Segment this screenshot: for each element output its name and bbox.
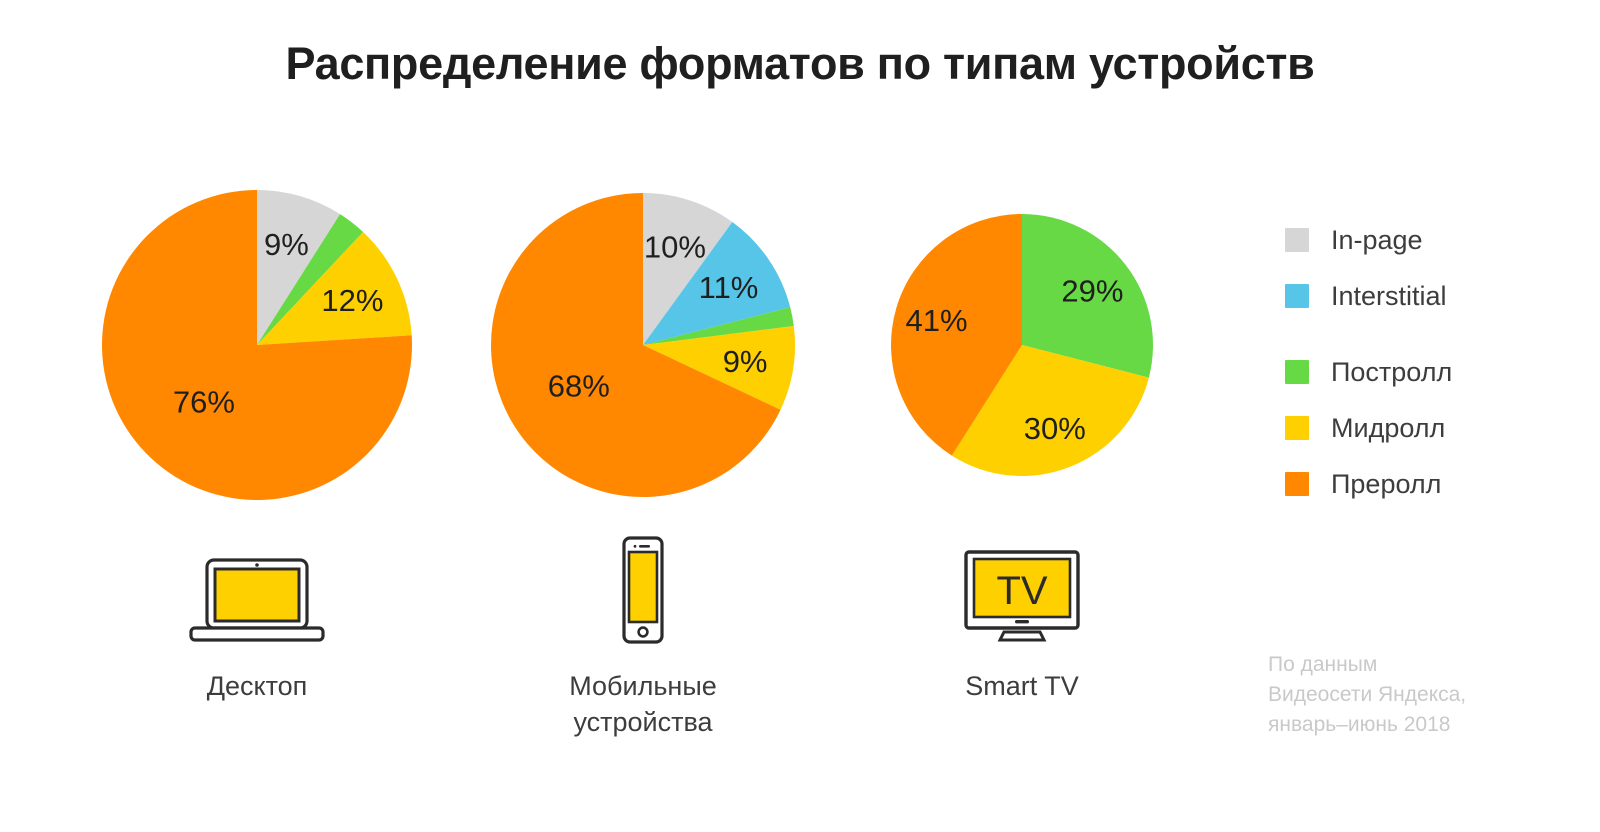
device-label: Десктоп xyxy=(107,668,407,704)
device-block-mobile: Мобильные устройства xyxy=(493,536,793,740)
legend-swatch-icon xyxy=(1285,416,1309,440)
pie-slice-label: 76% xyxy=(173,385,235,420)
pie-slice-label: 29% xyxy=(1061,273,1123,308)
tv-screen-text: TV xyxy=(996,569,1047,613)
legend-label: Преролл xyxy=(1331,469,1441,500)
device-label: Мобильные устройства xyxy=(493,668,793,740)
legend-item[interactable]: Мидролл xyxy=(1285,400,1565,456)
legend-label: Постролл xyxy=(1331,357,1452,388)
pie-slice-label: 10% xyxy=(644,230,706,265)
pie-slice-label: 12% xyxy=(321,283,383,318)
legend-swatch-icon xyxy=(1285,228,1309,252)
pie-chart-3: 29%30%41% xyxy=(891,214,1153,476)
pie-slice-label: 9% xyxy=(723,344,768,379)
phone-icon xyxy=(493,536,793,646)
device-label: Smart TV xyxy=(872,668,1172,704)
legend-label: In-page xyxy=(1331,225,1423,256)
pie-slice-label: 11% xyxy=(699,270,759,305)
pie-slice-label: 68% xyxy=(548,369,610,404)
legend-item[interactable]: In-page xyxy=(1285,212,1565,268)
legend-swatch-icon xyxy=(1285,284,1309,308)
pie-slice-label: 30% xyxy=(1024,411,1086,446)
device-block-smarttv: TV Smart TV xyxy=(872,536,1172,704)
legend-label: Interstitial xyxy=(1331,281,1447,312)
legend: In-pageInterstitialПостроллМидроллПрерол… xyxy=(1285,212,1565,512)
tv-icon: TV xyxy=(872,536,1172,646)
pie-chart-1: 9%12%76% xyxy=(102,190,412,500)
legend-item[interactable]: Постролл xyxy=(1285,344,1565,400)
legend-swatch-icon xyxy=(1285,472,1309,496)
pie-slice-label: 41% xyxy=(905,303,967,338)
laptop-icon xyxy=(107,536,407,646)
legend-item[interactable]: Interstitial xyxy=(1285,268,1565,324)
pie-slice-label: 9% xyxy=(264,227,309,262)
legend-label: Мидролл xyxy=(1331,413,1445,444)
legend-swatch-icon xyxy=(1285,360,1309,384)
device-block-desktop: Десктоп xyxy=(107,536,407,704)
source-note: По данным Видеосети Яндекса, январь–июнь… xyxy=(1268,650,1568,740)
legend-item[interactable]: Преролл xyxy=(1285,456,1565,512)
pie-chart-2: 10%11%9%68% xyxy=(491,193,795,497)
page-title: Распределение форматов по типам устройст… xyxy=(0,38,1600,90)
